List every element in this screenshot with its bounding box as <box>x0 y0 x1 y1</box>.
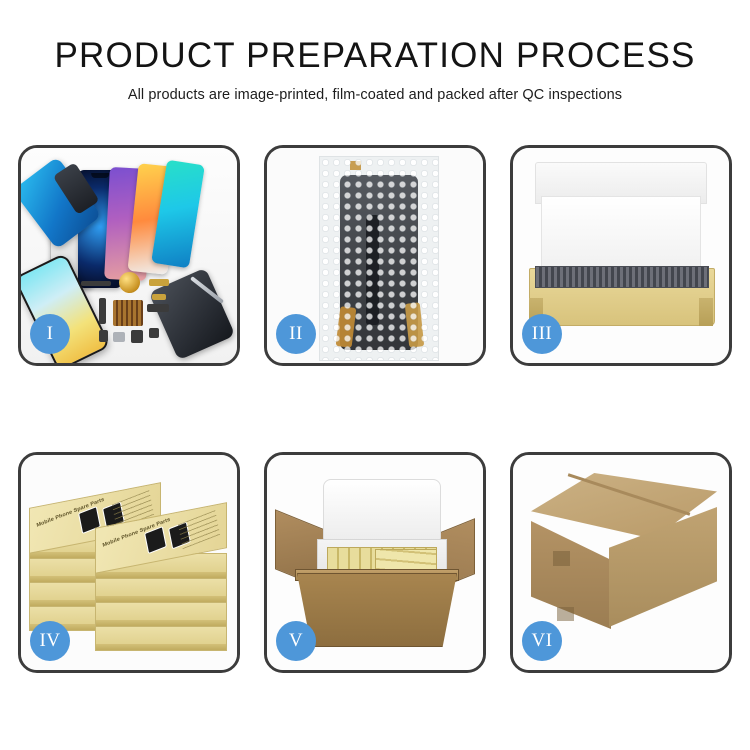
step-badge-3: III <box>522 314 562 354</box>
stacked-box <box>95 601 227 627</box>
process-step-6[interactable]: VI <box>510 452 732 673</box>
button-part-icon <box>131 330 143 343</box>
page-header: PRODUCT PREPARATION PROCESS All products… <box>0 38 750 103</box>
stacked-box <box>95 625 227 651</box>
process-step-3[interactable]: III <box>510 145 732 366</box>
flex-cable-icon <box>81 281 111 286</box>
carton-tape-lower-icon <box>557 607 574 621</box>
camera-module-icon <box>119 272 140 293</box>
bubble-wrapped-contents-icon <box>535 266 709 288</box>
step-badge-1: I <box>30 314 70 354</box>
sim-tray-icon <box>149 328 159 338</box>
gold-bracket-icon <box>152 294 166 300</box>
gold-connector-icon <box>149 279 169 286</box>
step-badge-4: IV <box>30 621 70 661</box>
tray-side-right-icon <box>699 298 713 326</box>
process-step-2[interactable]: II <box>264 145 486 366</box>
bubble-wrap-bag-icon <box>319 156 439 361</box>
box-lid-icon <box>541 196 701 274</box>
box-spec-lines-icon <box>178 510 220 549</box>
carton-front-icon <box>297 573 457 647</box>
process-grid: I II <box>18 145 732 679</box>
process-step-5[interactable]: V <box>264 452 486 673</box>
page-title: PRODUCT PREPARATION PROCESS <box>0 38 750 75</box>
antenna-strip-icon <box>147 304 169 312</box>
foam-lid-icon <box>323 479 441 541</box>
carton-tape-upper-icon <box>553 551 570 566</box>
step-badge-6: VI <box>522 621 562 661</box>
screw-tray-icon <box>113 300 143 326</box>
step-badge-2: II <box>276 314 316 354</box>
step-badge-5: V <box>276 621 316 661</box>
page-root: PRODUCT PREPARATION PROCESS All products… <box>0 0 750 750</box>
bubble-texture-icon <box>320 157 438 360</box>
vibrator-icon <box>113 332 125 342</box>
ribbon-cable-icon <box>99 298 106 324</box>
speaker-icon <box>99 330 108 342</box>
page-subtitle: All products are image-printed, film-coa… <box>0 87 750 103</box>
process-step-4[interactable]: Mobile Phone Spare Parts Mobile Phone Sp… <box>18 452 240 673</box>
stacked-box <box>95 577 227 603</box>
process-step-1[interactable]: I <box>18 145 240 366</box>
